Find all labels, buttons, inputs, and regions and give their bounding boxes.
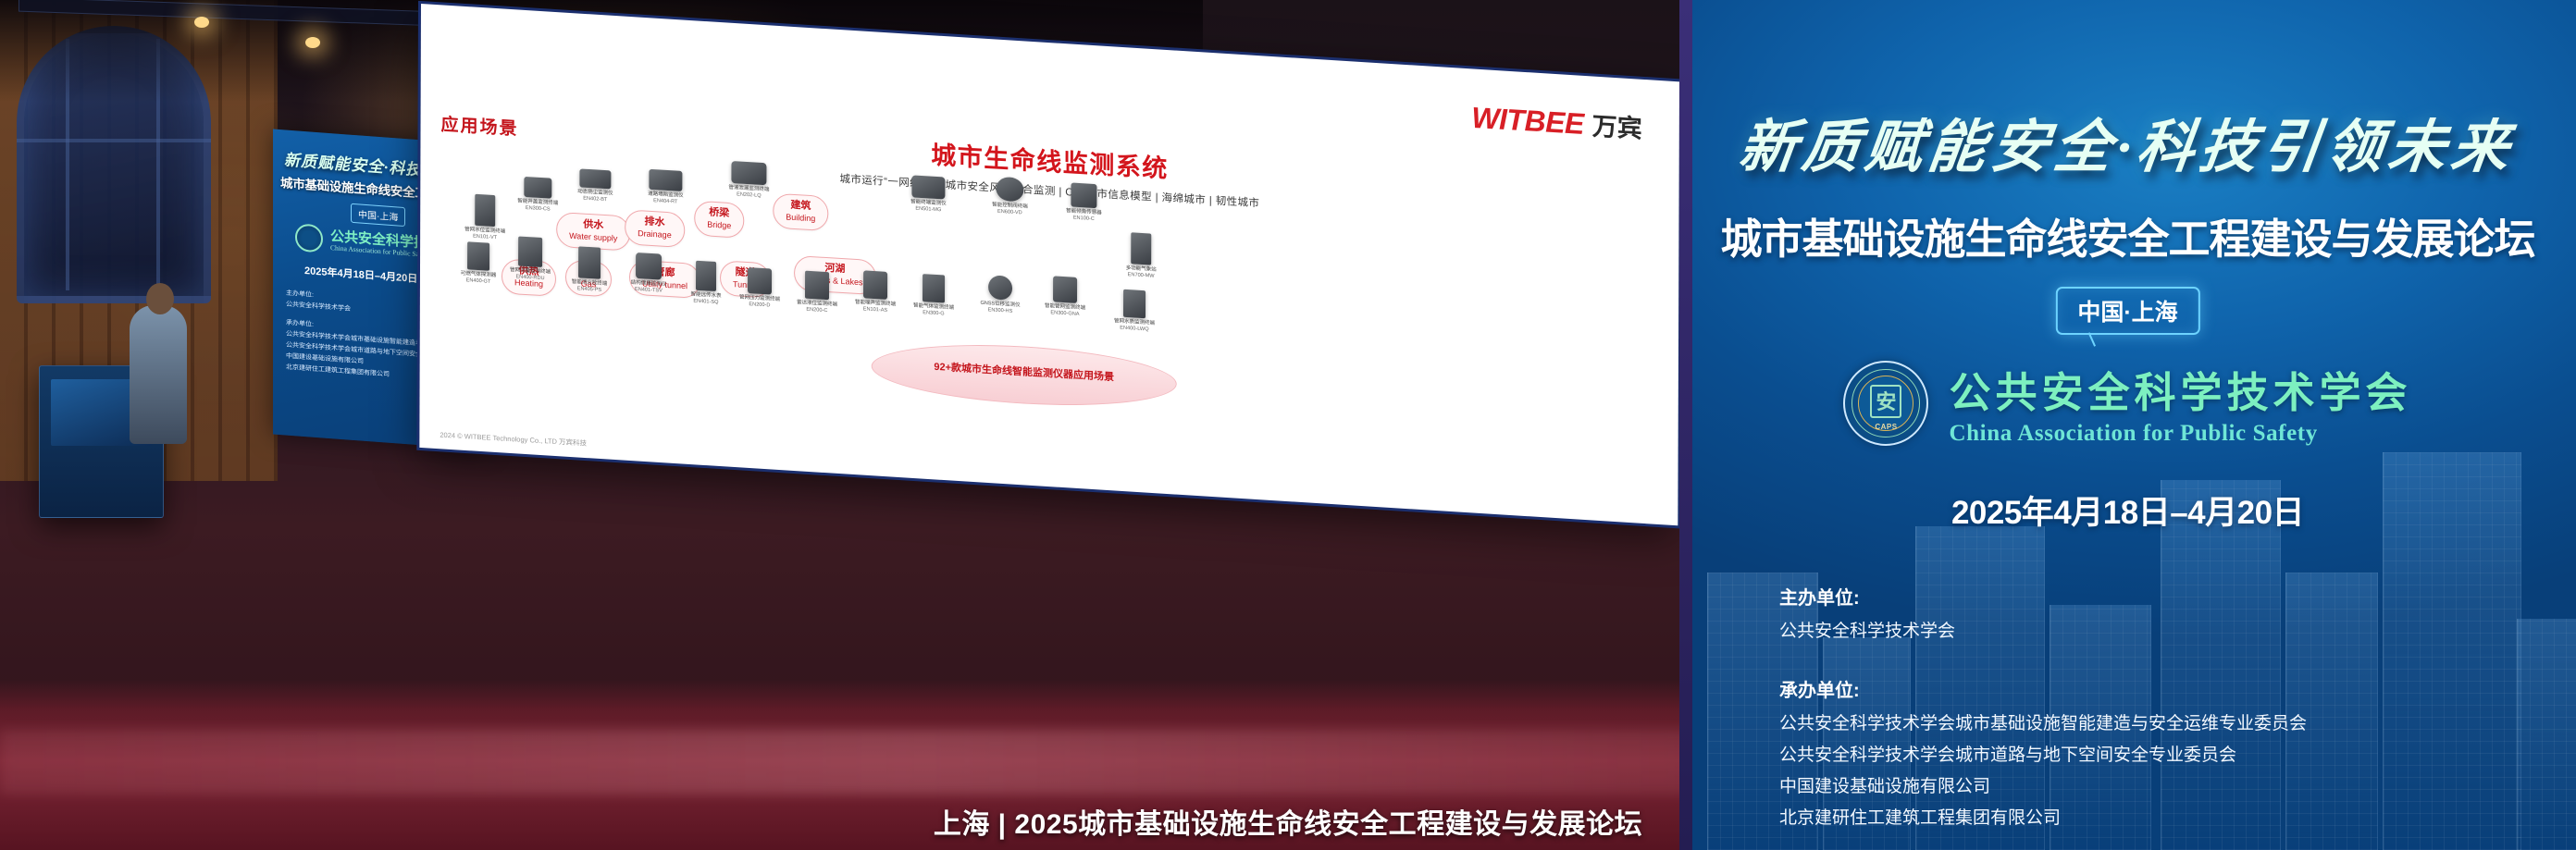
device-icon — [748, 267, 772, 295]
cohost-label: 承办单位: — [1779, 675, 2307, 702]
banner-calligraphy-slogan: 新质赋能安全·科技引领未来 — [1679, 100, 2576, 183]
device-item: 管网水质监测终端EN400-LWQ — [1100, 288, 1169, 333]
device-icon — [475, 194, 495, 227]
association-name-en: China Association for Public Safety — [1949, 421, 2411, 447]
side-led-date: 2025年4月18日–4月20日 — [304, 263, 417, 286]
presentation-slide: WITBEE 万宾 应用场景 城市生命线监测系统 城市运行“一网统管” | 城市… — [419, 4, 1679, 525]
device-icon — [518, 237, 542, 268]
scenario-bubble-en: Bridge — [707, 219, 731, 231]
bottom-caption: 上海 | 2025城市基础设施生命线安全工程建设与发展论坛 — [0, 793, 2576, 850]
device-icon — [1123, 289, 1146, 318]
device-icon — [863, 270, 887, 300]
device-icon — [579, 168, 611, 189]
stage-light — [194, 17, 209, 28]
device-icon — [1053, 276, 1077, 303]
conference-photo-stage: 新质赋能安全·科技引领未来 城市基础设施生命线安全工程建设与发展论坛 中国·上海… — [0, 0, 2576, 850]
device-icon — [731, 161, 766, 185]
device-icon — [988, 275, 1012, 301]
main-stage-banner: 新质赋能安全·科技引领未来 城市基础设施生命线安全工程建设与发展论坛 中国·上海… — [1679, 0, 2576, 850]
device-icon — [636, 253, 662, 280]
device-icon — [649, 169, 682, 191]
scenario-bubble-en: Building — [786, 212, 815, 224]
association-row: 安 CAPS 公共安全科学技术学会 China Association for … — [1679, 359, 2576, 447]
cohost-item: 公共安全科学技术学会城市基础设施智能建造与安全运维专业委员会 — [1779, 709, 2307, 734]
device-item: 智能管网监测终端EN300-GNA — [1031, 275, 1099, 318]
device-icon — [923, 274, 945, 302]
caps-seal-glyph: 安 — [1870, 385, 1901, 418]
host-label: 主办单位: — [1779, 583, 1955, 610]
slide-copyright: 2024 © WITBEE Technology Co., LTD 万宾科技 — [440, 430, 587, 449]
scenario-bubble-en: Drainage — [638, 228, 672, 240]
brand-name-cn: 万宾 — [1592, 105, 1642, 144]
scenario-bubble-cn: 桥梁 — [707, 206, 731, 220]
side-led-cohost-item: 北京建研住工建筑工程集团有限公司 — [286, 363, 390, 381]
device-item: 动态扬尘监测仪EN402-BT — [561, 167, 629, 203]
device-item: 智能终端监测仪EN501-MG — [894, 174, 962, 214]
device-item: GNSS位移监测仪EN300-HS — [966, 274, 1034, 315]
device-item: 多功能气象站EN700-MW — [1107, 231, 1175, 280]
device-icon — [578, 246, 601, 278]
presenter-head — [146, 283, 174, 314]
stage-light — [305, 37, 320, 48]
brand-name-en: WITBEE — [1471, 101, 1584, 142]
side-led-host-label: 主办单位: — [286, 289, 314, 302]
device-icon — [1131, 232, 1151, 265]
device-item: 智能气体监测终端EN300-G — [899, 273, 968, 318]
device-icon — [805, 271, 829, 301]
device-item: 智能控制阀终端EN600-VD — [975, 175, 1044, 216]
scenario-bubble: 排水Drainage — [625, 209, 685, 248]
device-icon — [696, 261, 716, 291]
side-led-host-item: 公共安全科学技术学会 — [286, 301, 351, 315]
scenario-bubble: 桥梁Bridge — [694, 201, 744, 239]
device-icon — [911, 175, 945, 199]
device-item: 管道泄漏监测终端EN202-LQ — [714, 160, 783, 200]
host-block: 主办单位: 公共安全科学技术学会 — [1779, 583, 1955, 648]
scenario-bubble-en: Water supply — [569, 230, 617, 243]
witbee-logo: WITBEE 万宾 — [1471, 99, 1642, 145]
device-icon — [524, 177, 551, 199]
device-icon — [996, 177, 1023, 203]
presenter-silhouette — [130, 305, 187, 444]
caps-abbr: CAPS — [1845, 423, 1926, 431]
association-text: 公共安全科学技术学会 China Association for Public … — [1949, 359, 2411, 447]
association-name-cn: 公共安全科学技术学会 — [1949, 359, 2411, 419]
device-item: 道路塌陷监测仪EN404-RT — [631, 168, 700, 206]
side-led-location-badge: 中国·上海 — [351, 203, 405, 227]
location-badge: 中国·上海 — [2055, 287, 2199, 335]
device-icon — [467, 241, 489, 270]
device-icon — [1071, 182, 1096, 208]
caps-emblem-icon: 安 CAPS — [1843, 361, 1928, 446]
host-item: 公共安全科学技术学会 — [1779, 617, 1955, 642]
side-led-caps-logo-icon — [295, 223, 323, 253]
banner-forum-title: 城市基础设施生命线安全工程建设与发展论坛 — [1679, 205, 2576, 265]
device-item: 智能倾角传感器EN100-C — [1049, 181, 1118, 223]
side-led-cohost-label: 承办单位: — [286, 319, 314, 331]
arch-window-mullion — [17, 139, 211, 142]
cohost-item: 公共安全科学技术学会城市道路与地下空间安全专业委员会 — [1779, 741, 2307, 766]
event-date: 2025年4月18日–4月20日 — [1679, 487, 2576, 534]
